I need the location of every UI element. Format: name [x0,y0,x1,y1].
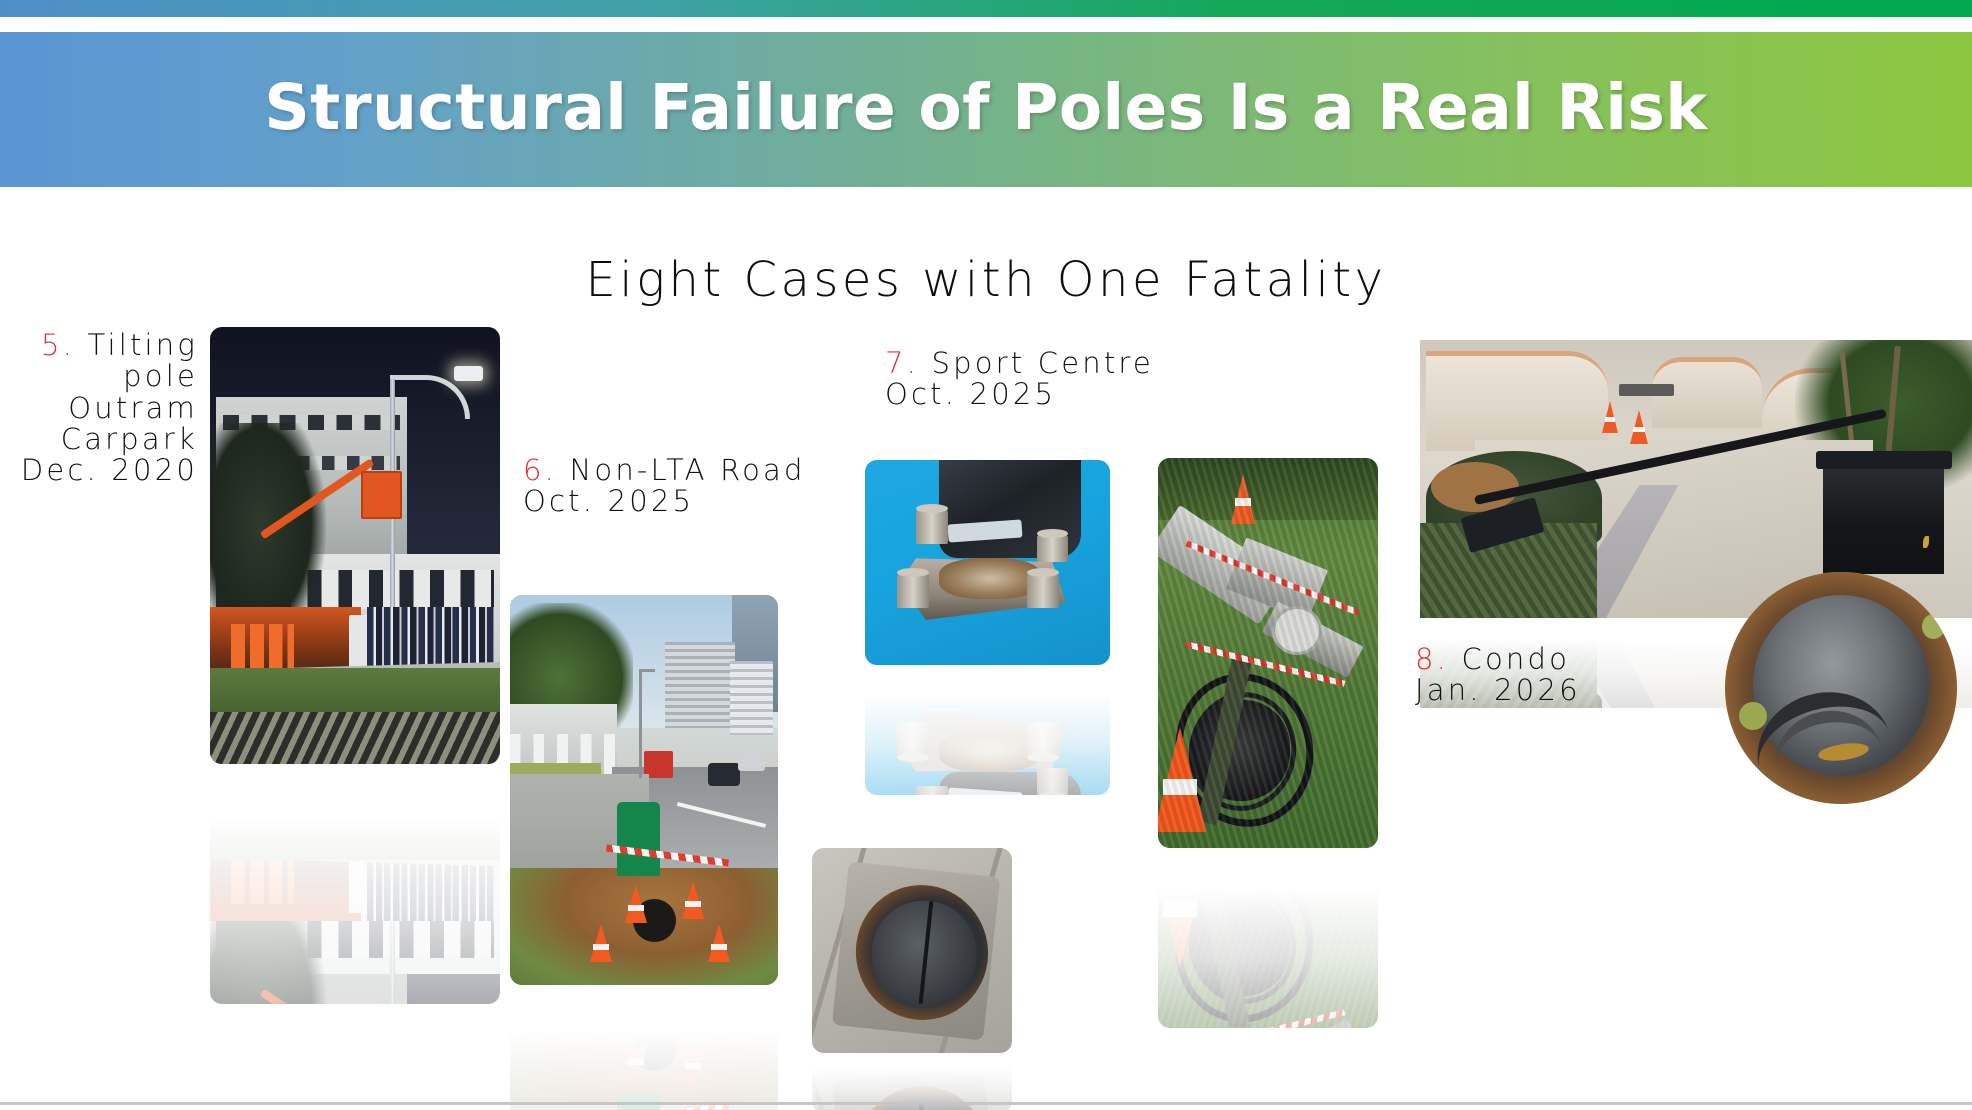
case-caption-8: 8. Condo Jan. 2026 [1415,644,1755,707]
case-date-8: Jan. 2026 [1415,673,1581,707]
header-band: Structural Failure of Poles Is a Real Ri… [0,32,1972,187]
case-photo-5-reflection [210,764,500,1004]
case-photo-7c[interactable] [812,848,1012,1053]
case-title-6: Non-LTA Road [570,453,806,487]
case-title-7: Sport Centre [932,346,1154,380]
night-pole-repair-art [210,327,500,764]
slide-bottom-rule [0,1102,1972,1105]
case-title-8: Condo [1462,642,1571,676]
case-caption-5: 5. Tilting pole Outram Carpark Dec. 2020 [0,330,198,487]
case-photo-7b[interactable] [1158,458,1378,848]
corroded-pole-section-art [812,848,1012,1053]
pole-base-blue-mat-art [865,460,1110,665]
slide: Structural Failure of Poles Is a Real Ri… [0,0,1972,1110]
case-photo-7a[interactable] [865,460,1110,665]
header-accent-strip [0,0,1972,17]
case-date-6: Oct. 2025 [523,484,694,518]
case-photo-6[interactable] [510,595,778,985]
case-photo-7b-reflection [1158,848,1378,1028]
slide-subtitle: Eight Cases with One Fatality [0,252,1972,308]
case-number-8: 8. [1415,642,1449,676]
case-photo-7a-reflection [865,665,1110,795]
case-number-5: 5. [41,328,75,362]
rusted-pole-stump-art [1725,572,1957,804]
page-title: Structural Failure of Poles Is a Real Ri… [264,76,1707,143]
case-location-5: Outram Carpark [61,391,198,456]
case-date-7: Oct. 2025 [885,377,1056,411]
case-number-7: 7. [885,346,919,380]
fallen-pole-grass-art [1158,458,1378,848]
case-photo-6-reflection [510,985,778,1110]
case-photo-5[interactable] [210,327,500,764]
case-title-5: Tilting pole [87,328,198,393]
case-caption-7: 7. Sport Centre Oct. 2025 [885,348,1305,411]
case-number-6: 6. [523,453,557,487]
road-excavation-art [510,595,778,985]
case-photo-8-inset[interactable] [1725,572,1957,804]
case-date-5: Dec. 2020 [21,453,198,487]
header-spacer [0,17,1972,32]
case-caption-6: 6. Non-LTA Road Oct. 2025 [523,455,823,518]
